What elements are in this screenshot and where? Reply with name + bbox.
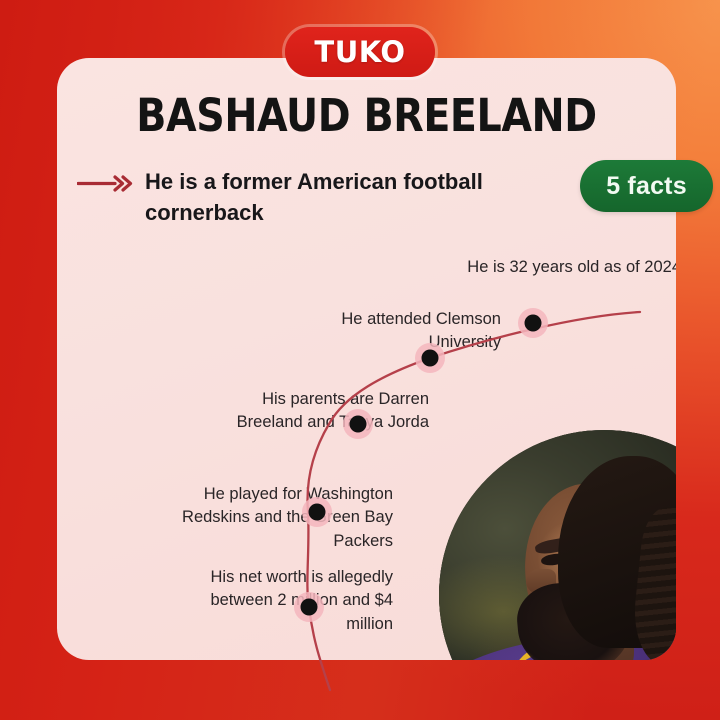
fact-item-2: He attended Clemson University [271, 308, 501, 355]
content-card: BASHAUD BREELAND He is a former American… [57, 58, 676, 660]
fact-item-3: His parents are Darren Breeland and Tany… [194, 388, 429, 435]
fact-item-5: His net worth is allegedly between 2 mil… [163, 566, 393, 636]
facts-count-badge: 5 facts [580, 160, 713, 212]
tuko-logo-text: TUKO [314, 35, 405, 69]
fact-item-1: He is 32 years old as of 2024 [381, 256, 676, 279]
facts-list: He is 32 years old as of 2024 He attende… [57, 58, 676, 660]
fact-item-4: He played for Washington Redskins and th… [163, 483, 393, 553]
infographic-canvas: TUKO BASHAUD BREELAND He is a former Ame… [0, 0, 720, 720]
facts-count-label: 5 facts [606, 172, 687, 201]
tuko-logo: TUKO [285, 27, 435, 77]
